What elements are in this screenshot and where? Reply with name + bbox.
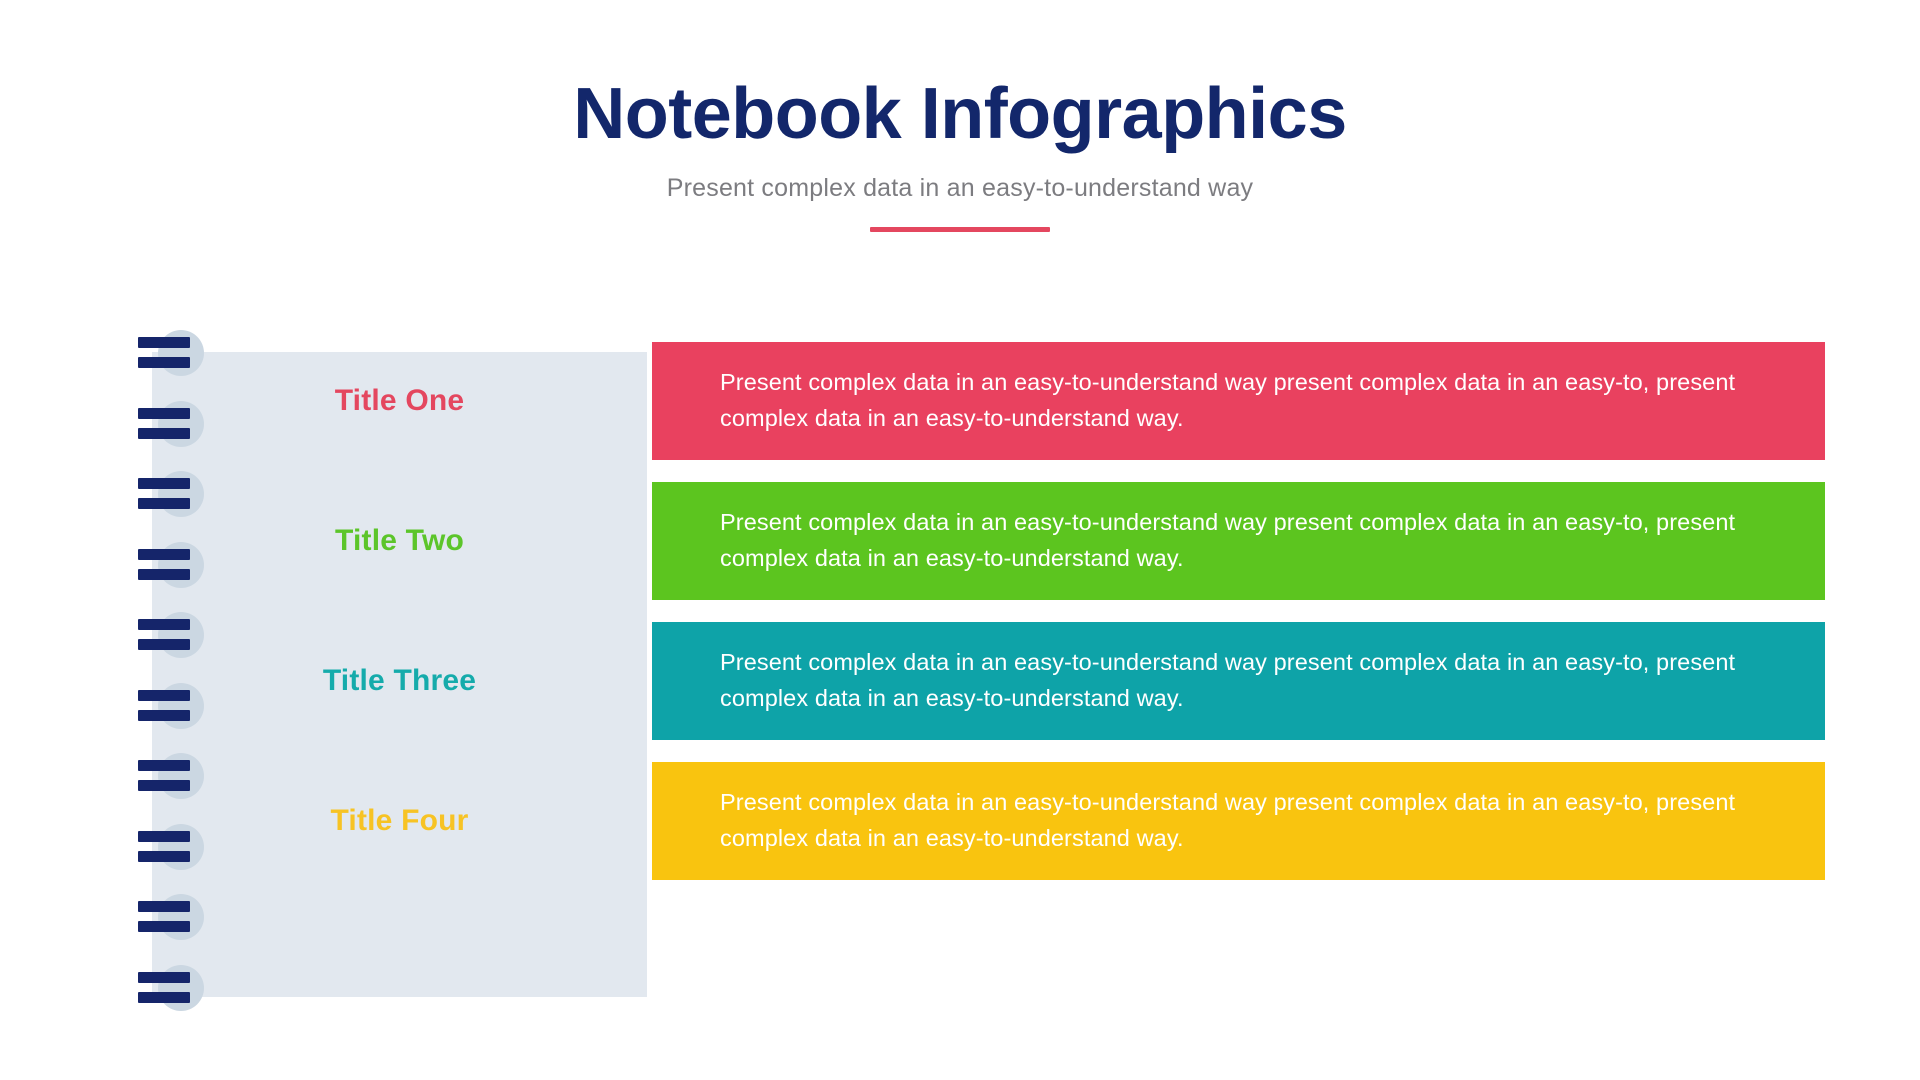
row-body-text-4: Present complex data in an easy-to-under… [652,785,1825,856]
content-row: Title FourPresent complex data in an eas… [0,762,1920,880]
row-color-bar-2[interactable]: Present complex data in an easy-to-under… [652,482,1825,600]
row-title-3[interactable]: Title Three [152,622,647,740]
row-body-text-2: Present complex data in an easy-to-under… [652,505,1825,576]
header-block: Notebook Infographics Present complex da… [0,0,1920,232]
row-title-2[interactable]: Title Two [152,482,647,600]
content-row: Title ThreePresent complex data in an ea… [0,622,1920,740]
content-row: Title OnePresent complex data in an easy… [0,342,1920,460]
content-row: Title TwoPresent complex data in an easy… [0,482,1920,600]
row-color-bar-1[interactable]: Present complex data in an easy-to-under… [652,342,1825,460]
row-body-text-1: Present complex data in an easy-to-under… [652,365,1825,436]
row-body-text-3: Present complex data in an easy-to-under… [652,645,1825,716]
title-divider [870,227,1050,232]
row-color-bar-4[interactable]: Present complex data in an easy-to-under… [652,762,1825,880]
page-subtitle: Present complex data in an easy-to-under… [0,150,1920,203]
rows-container: Title OnePresent complex data in an easy… [0,352,1920,997]
page-title: Notebook Infographics [0,0,1920,150]
row-color-bar-3[interactable]: Present complex data in an easy-to-under… [652,622,1825,740]
row-title-1[interactable]: Title One [152,342,647,460]
row-title-4[interactable]: Title Four [152,762,647,880]
